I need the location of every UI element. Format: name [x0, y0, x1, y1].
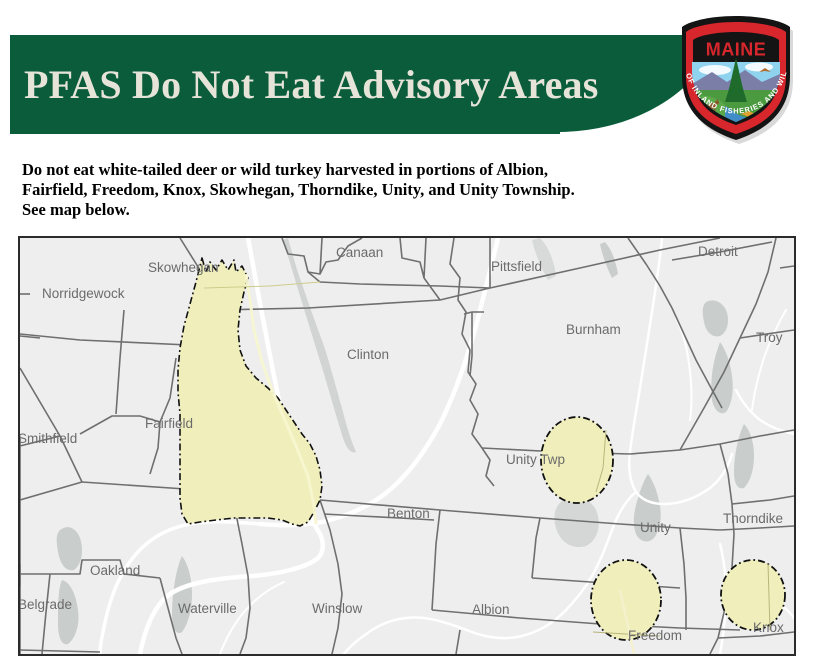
map-label-waterville: Waterville: [178, 601, 237, 616]
map-label-knox: Knox: [753, 620, 784, 635]
map-label-pittsfield: Pittsfield: [491, 259, 542, 274]
advisory-line-1: Do not eat white-tailed deer or wild tur…: [22, 160, 798, 180]
map-label-burnham: Burnham: [566, 322, 621, 337]
page-title: PFAS Do Not Eat Advisory Areas: [24, 61, 664, 108]
map-label-benton: Benton: [387, 506, 430, 521]
map-label-unity-twp: Unity Twp: [506, 452, 565, 467]
map-label-clinton: Clinton: [347, 347, 389, 362]
map-label-belgrade: Belgrade: [20, 597, 72, 612]
advisory-map[interactable]: Norridgewock Skowhegan Canaan Pittsfield…: [18, 236, 796, 656]
map-background: [20, 238, 794, 654]
maine-dept-inland-fisheries-wildlife-seal-icon: MAINE: [667, 10, 805, 150]
advisory-line-3: See map below.: [22, 200, 798, 220]
map-label-norridgewock: Norridgewock: [42, 286, 125, 301]
advisory-text-block: Do not eat white-tailed deer or wild tur…: [22, 160, 798, 220]
advisory-line-2: Fairfield, Freedom, Knox, Skowhegan, Tho…: [22, 180, 798, 200]
header-banner: PFAS Do Not Eat Advisory Areas MAINE: [0, 0, 818, 160]
map-label-canaan: Canaan: [336, 245, 383, 260]
map-label-fairfield: Fairfield: [145, 416, 193, 431]
map-label-thorndike: Thorndike: [723, 511, 783, 526]
map-label-detroit: Detroit: [698, 244, 738, 259]
map-label-unity: Unity: [640, 520, 671, 535]
map-label-freedom: Freedom: [628, 628, 682, 643]
seal-maine-text: MAINE: [706, 40, 767, 60]
map-canvas[interactable]: Norridgewock Skowhegan Canaan Pittsfield…: [20, 238, 794, 654]
map-label-skowhegan: Skowhegan: [148, 260, 219, 275]
map-label-albion: Albion: [472, 602, 510, 617]
map-label-winslow: Winslow: [312, 601, 363, 616]
map-label-oakland: Oakland: [90, 563, 140, 578]
map-label-smithfield: Smithfield: [20, 431, 77, 446]
map-label-troy: Troy: [756, 330, 783, 345]
